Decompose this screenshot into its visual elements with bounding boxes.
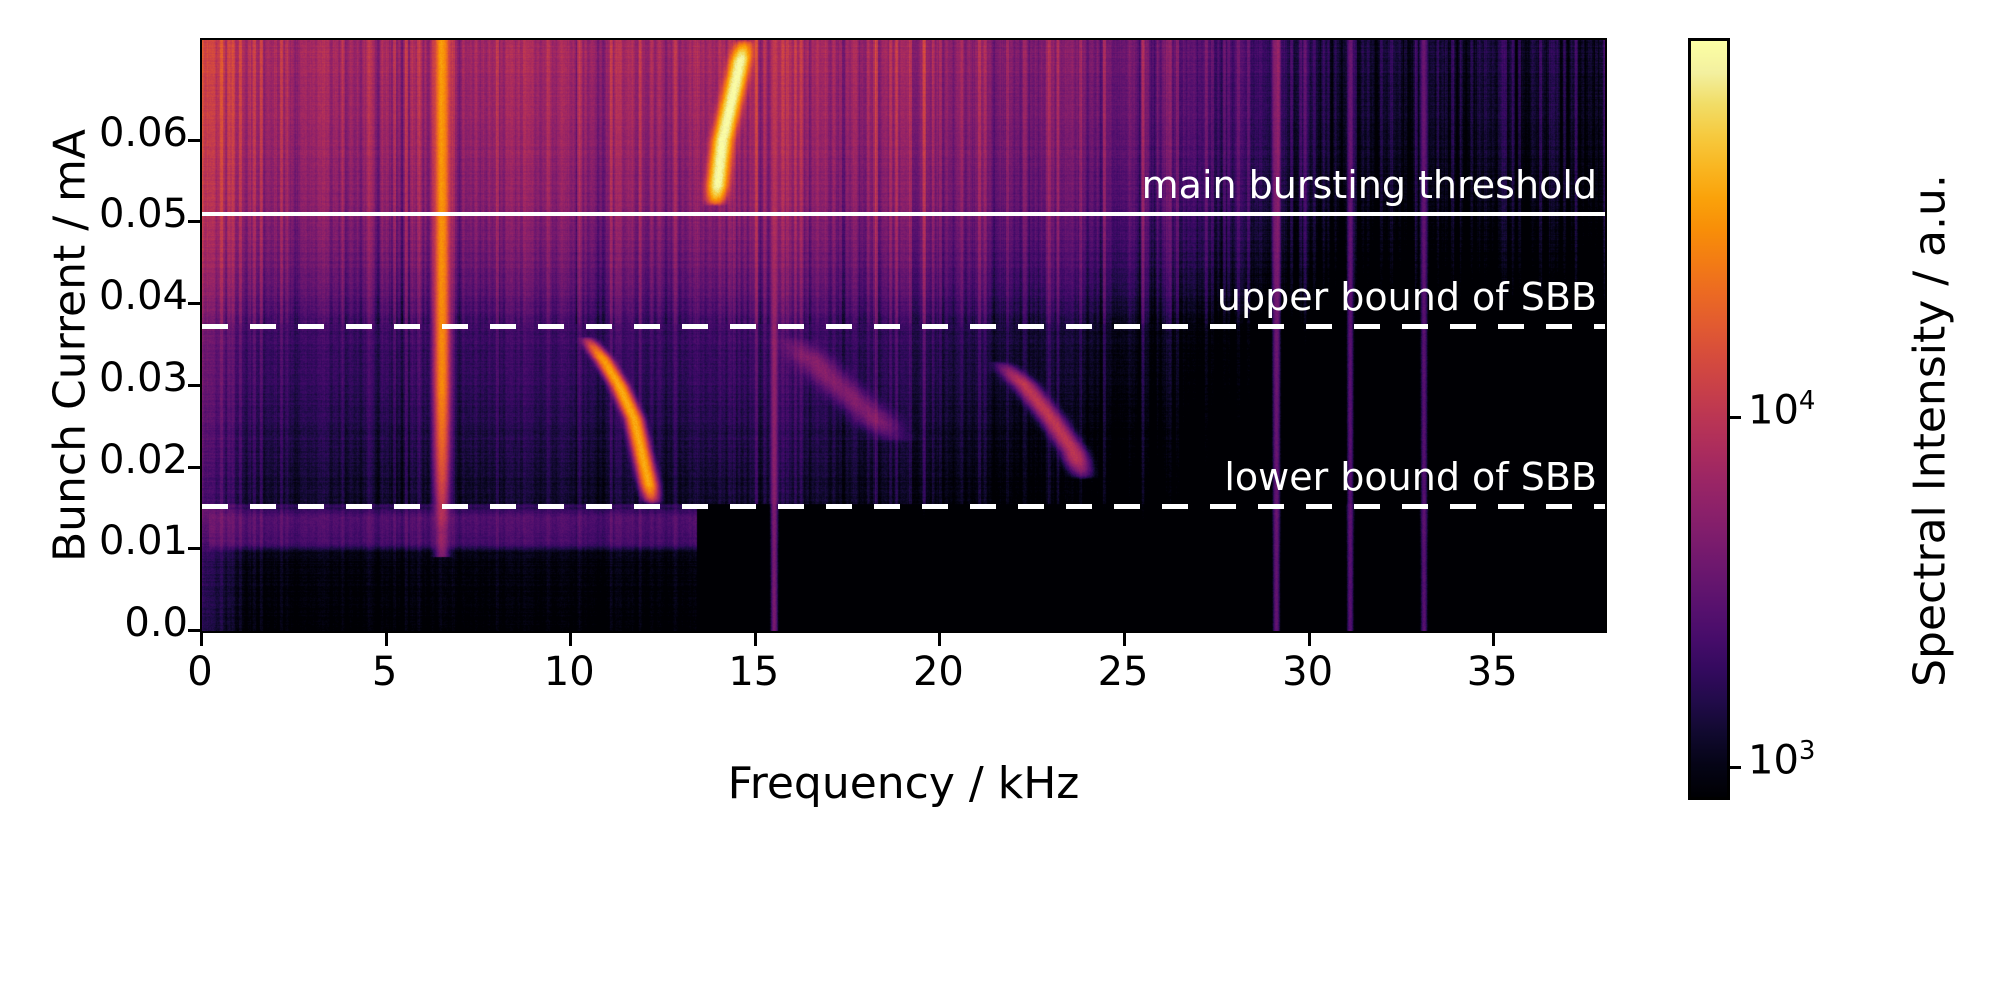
colorbar-tick-mark [1730, 766, 1741, 769]
x-tick-mark [1123, 633, 1126, 646]
figure-root: Bunch Current / mA 0.00.010.020.030.040.… [0, 0, 2000, 1000]
y-tick-label: 0.06 [99, 113, 188, 153]
y-tick-label: 0.04 [99, 276, 188, 316]
y-tick-mark [188, 547, 200, 550]
x-tick-mark [569, 633, 572, 646]
colorbar-label: Spectral Intensity / a.u. [1905, 21, 1956, 841]
main-bursting-threshold-line [202, 212, 1605, 216]
x-tick-mark [385, 633, 388, 646]
y-tick-label: 0.01 [99, 521, 188, 561]
y-tick-mark [188, 466, 200, 469]
x-tick-mark [938, 633, 941, 646]
colorbar-tick-mark [1730, 416, 1741, 419]
y-tick-mark [188, 302, 200, 305]
x-tick-label: 25 [1063, 652, 1183, 692]
x-tick-label: 10 [509, 652, 629, 692]
colorbar-tick-label: 103 [1748, 738, 1815, 780]
x-tick-mark [200, 633, 203, 646]
colorbar-tick-label: 104 [1748, 388, 1815, 430]
colorbar[interactable] [1688, 38, 1730, 800]
colorbar-gradient [1691, 41, 1727, 797]
upper-bound-of-sbb-label: upper bound of SBB [1217, 278, 1597, 316]
y-tick-mark [188, 384, 200, 387]
spectrogram-canvas [202, 40, 1605, 631]
x-tick-label: 20 [878, 652, 998, 692]
x-tick-label: 0 [140, 652, 260, 692]
y-tick-label: 0.0 [124, 603, 188, 643]
y-tick-mark [188, 629, 200, 632]
spectrogram-plot[interactable]: main bursting thresholdupper bound of SB… [200, 38, 1607, 633]
y-tick-label: 0.03 [99, 358, 188, 398]
y-tick-label: 0.05 [99, 194, 188, 234]
x-tick-mark [1492, 633, 1495, 646]
lower-bound-of-sbb-line [202, 504, 1605, 509]
lower-bound-of-sbb-label: lower bound of SBB [1224, 458, 1597, 496]
x-axis-label: Frequency / kHz [0, 758, 1807, 809]
y-tick-mark [188, 139, 200, 142]
x-tick-label: 15 [694, 652, 814, 692]
x-tick-label: 35 [1432, 652, 1552, 692]
y-tick-label: 0.02 [99, 440, 188, 480]
main-bursting-threshold-label: main bursting threshold [1142, 166, 1597, 204]
y-axis-label: Bunch Current / mA [45, 26, 96, 666]
y-tick-mark [188, 220, 200, 223]
x-tick-label: 5 [325, 652, 445, 692]
x-tick-label: 30 [1248, 652, 1368, 692]
upper-bound-of-sbb-line [202, 324, 1605, 329]
x-tick-mark [1308, 633, 1311, 646]
x-tick-mark [754, 633, 757, 646]
